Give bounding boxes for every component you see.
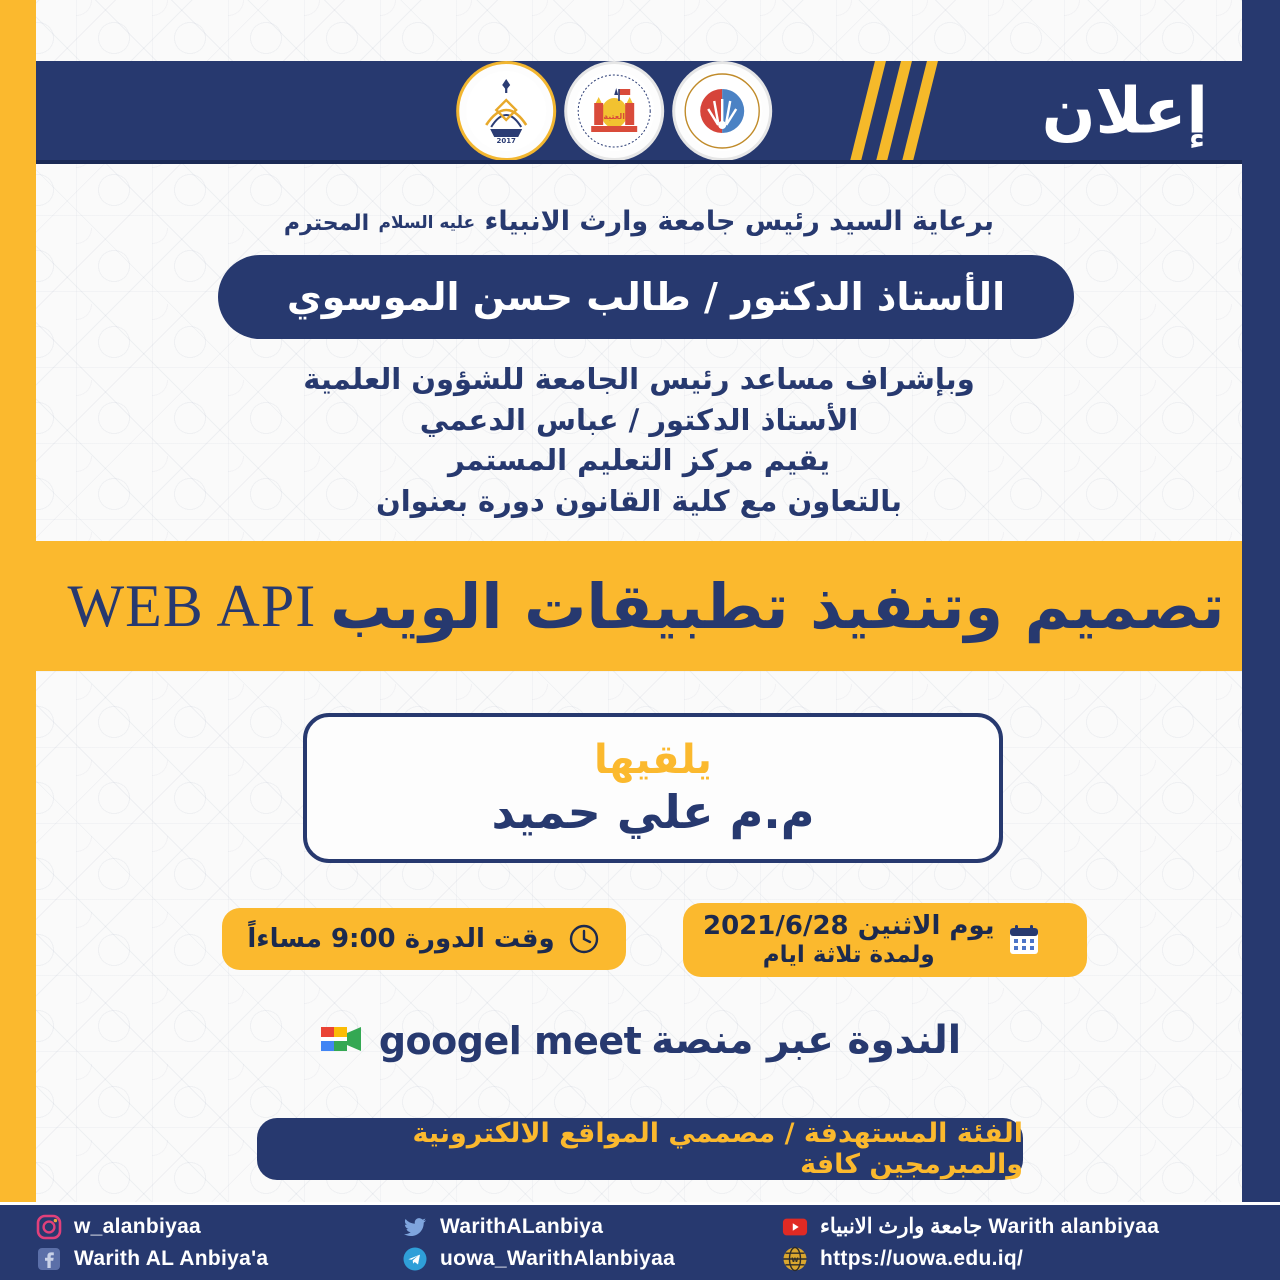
calendar-icon [1007,923,1041,957]
supervision-line-4: بالتعاون مع كلية القانون دورة بعنوان [36,482,1242,521]
patron-honorific-text: المحترم [284,211,369,236]
diagonal-stripes-decoration [812,61,942,164]
presented-by-label: يلقيها [594,737,712,783]
ministry-higher-education-logo [675,64,769,158]
telegram-handle: uowa_WarithAlanbiyaa [440,1247,675,1271]
instagram-icon [36,1214,62,1240]
footer-item-website[interactable]: w https://uowa.edu.iq/ [782,1246,1252,1272]
svg-text:2017: 2017 [496,137,516,145]
page-title: إعلان [1042,79,1208,142]
footer-item-youtube[interactable]: Warith alanbiyaa جامعة وارث الانبياء [782,1214,1252,1240]
speaker-name: م.م علي حميد [491,785,814,839]
social-footer: w_alanbiyaa Warith AL Anbiya'a [0,1202,1280,1280]
google-meet-icon [317,1019,369,1063]
footer-column-middle: WarithALanbiya uowa_WarithAlanbiyaa [402,1214,782,1272]
youtube-handle: Warith alanbiyaa جامعة وارث الانبياء [820,1214,1159,1239]
facebook-icon [36,1246,62,1272]
date-line-2: ولمدة تلاثة ايام [703,942,995,969]
announcement-poster: 2017 العتبة [0,0,1280,1280]
course-title-arabic: تصميم وتنفيذ تطبيقات الويب [330,570,1224,643]
date-line-1: يوم الاثنين 2021/6/28 [703,911,995,942]
patron-name-text: الأستاذ الدكتور / طالب حسن الموسوي [287,275,1005,319]
footer-item-telegram[interactable]: uowa_WarithAlanbiyaa [402,1246,782,1272]
platform-arabic-text: الندوة عبر منصة [651,1018,961,1063]
twitter-handle: WarithALanbiya [440,1215,603,1239]
platform-line: الندوة عبر منصة googel meet [36,1018,1242,1063]
supervision-line-3: يقيم مركز التعليم المستمر [36,441,1242,480]
instagram-handle: w_alanbiyaa [74,1215,201,1239]
footer-column-right: Warith alanbiyaa جامعة وارث الانبياء w h… [782,1214,1252,1272]
right-accent-strip [1242,0,1280,1202]
svg-text:w: w [791,1255,799,1264]
patron-intro-line: برعاية السيد رئيس جامعة وارث الانبياء عل… [36,206,1242,237]
supervision-line-1: وبإشراف مساعد رئيس الجامعة للشؤون العلمي… [36,360,1242,399]
course-title-english: WEB API [68,572,317,641]
time-text: وقت الدورة 9:00 مساءاً [247,924,554,954]
website-icon: w [782,1246,808,1272]
footer-item-instagram[interactable]: w_alanbiyaa [36,1214,402,1240]
patron-salam-text: عليه السلام [379,213,476,233]
twitter-icon [402,1214,428,1240]
left-accent-strip [0,0,36,1210]
poster-header: 2017 العتبة [36,61,1242,164]
platform-english-text: googel meet [379,1019,641,1063]
warith-al-anbiyaa-university-logo: 2017 [459,64,553,158]
course-title-band: WEB API تصميم وتنفيذ تطبيقات الويب [36,541,1242,671]
date-text-group: يوم الاثنين 2021/6/28 ولمدة تلاثة ايام [703,911,995,969]
supervision-line-2: الأستاذ الدكتور / عباس الدعمي [36,401,1242,440]
website-url: https://uowa.edu.iq/ [820,1247,1023,1271]
patron-intro-text: برعاية السيد رئيس جامعة وارث الانبياء [485,206,995,237]
holy-abbasid-shrine-logo: العتبة [567,64,661,158]
logo-group: 2017 العتبة [459,64,769,158]
date-pill: يوم الاثنين 2021/6/28 ولمدة تلاثة ايام [683,903,1087,977]
speaker-box: يلقيها م.م علي حميد [303,713,1003,863]
footer-item-twitter[interactable]: WarithALanbiya [402,1214,782,1240]
footer-column-left: w_alanbiyaa Warith AL Anbiya'a [12,1214,402,1272]
footer-item-facebook[interactable]: Warith AL Anbiya'a [36,1246,402,1272]
patron-name-banner: الأستاذ الدكتور / طالب حسن الموسوي [218,255,1074,339]
target-audience-banner: الفئة المستهدفة / مصممي المواقع الالكترو… [257,1118,1023,1180]
clock-icon [567,922,601,956]
youtube-icon [782,1214,808,1240]
time-pill: وقت الدورة 9:00 مساءاً [222,908,626,970]
target-audience-text: الفئة المستهدفة / مصممي المواقع الالكترو… [257,1118,1023,1180]
facebook-handle: Warith AL Anbiya'a [74,1247,268,1271]
svg-text:العتبة: العتبة [603,112,625,121]
telegram-icon [402,1246,428,1272]
supervision-block: وبإشراف مساعد رئيس الجامعة للشؤون العلمي… [36,360,1242,522]
